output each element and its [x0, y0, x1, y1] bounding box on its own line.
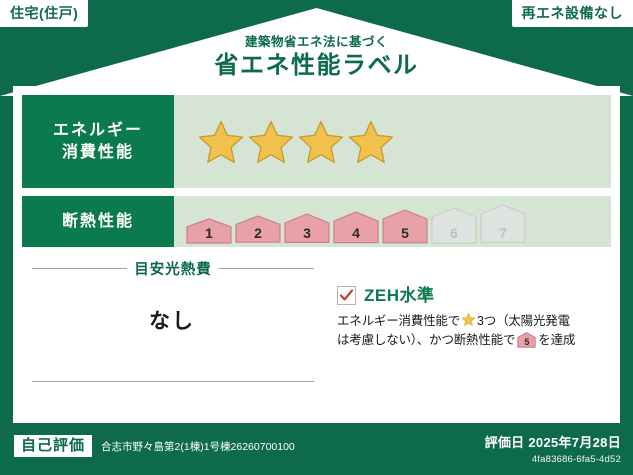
- insulation-label-line1: 断熱性能: [62, 211, 134, 233]
- house-icon-number: 5: [517, 338, 536, 347]
- page-title: 省エネ性能ラベル: [0, 52, 633, 80]
- zeh-title: ZEH水準: [364, 287, 435, 304]
- zeh-desc-part1: エネルギー消費性能で: [337, 314, 460, 328]
- utility-cost-heading-text: 目安光熱費: [134, 258, 212, 279]
- badge-renewable-energy: 再エネ設備なし: [512, 0, 633, 27]
- energy-performance-label: エネルギー 消費性能: [22, 95, 174, 188]
- insulation-level-3: 3: [284, 213, 330, 243]
- zeh-panel: ZEH水準 エネルギー消費性能で3つ（太陽光発電は考慮しない）、かつ断熱性能で5…: [322, 254, 611, 414]
- zeh-description: エネルギー消費性能で3つ（太陽光発電は考慮しない）、かつ断熱性能で5を達成: [337, 312, 603, 350]
- title-subtitle: 建築物省エネ法に基づく: [0, 36, 633, 50]
- heading-rule-right: [219, 268, 314, 269]
- energy-performance-row: エネルギー 消費性能: [22, 95, 611, 188]
- insulation-level-number: 2: [235, 226, 281, 240]
- insulation-performance-label: 断熱性能: [22, 196, 174, 247]
- label-footer: 自己評価 合志市野々島第2(1棟)1号棟26260700100 評価日 2025…: [0, 423, 633, 475]
- footer-right-group: 評価日 2025年7月28日 4fa83686-6fa5-4d52: [485, 432, 621, 465]
- property-address: 合志市野々島第2(1棟)1号棟26260700100: [101, 439, 295, 454]
- label-card: エネルギー 消費性能 断熱性能 1234567 目安光熱費: [13, 86, 620, 423]
- energy-label-line2: 消費性能: [62, 142, 134, 164]
- house-icon: 5: [517, 332, 536, 348]
- star-icon: [298, 119, 344, 165]
- insulation-level-4: 4: [333, 211, 379, 244]
- evaluation-id: 4fa83686-6fa5-4d52: [485, 454, 621, 465]
- insulation-level-number: 4: [333, 226, 379, 240]
- insulation-level-number: 5: [382, 226, 428, 240]
- evaluation-date: 評価日 2025年7月28日: [485, 432, 621, 451]
- star-icon: [198, 119, 244, 165]
- insulation-level-number: 3: [284, 226, 330, 240]
- utility-cost-value: なし: [22, 305, 322, 335]
- insulation-level-2: 2: [235, 215, 281, 243]
- insulation-level-scale: 1234567: [186, 200, 526, 244]
- insulation-performance-value: 1234567: [174, 196, 611, 247]
- star-icon: [461, 312, 476, 327]
- insulation-performance-row: 断熱性能 1234567: [22, 196, 611, 247]
- star-icon: [348, 119, 394, 165]
- insulation-level-7: 7: [480, 204, 526, 243]
- zeh-checkbox[interactable]: [337, 286, 356, 305]
- zeh-header: ZEH水準: [337, 286, 603, 305]
- zeh-desc-part4: を達成: [538, 333, 575, 347]
- utility-cost-panel: 目安光熱費 なし: [22, 254, 322, 414]
- insulation-level-6: 6: [431, 207, 477, 244]
- energy-performance-value: [174, 95, 611, 188]
- badge-building-type: 住宅(住戸): [0, 0, 88, 27]
- utility-cost-heading: 目安光熱費: [22, 258, 322, 279]
- zeh-block: ZEH水準 エネルギー消費性能で3つ（太陽光発電は考慮しない）、かつ断熱性能で5…: [323, 254, 611, 350]
- energy-performance-label: 住宅(住戸) 再エネ設備なし 建築物省エネ法に基づく 省エネ性能ラベル エネルギ…: [0, 0, 633, 475]
- zeh-desc-part2: 3つ（太陽光発電: [477, 314, 570, 328]
- heading-rule-left: [32, 268, 127, 269]
- lower-section: 目安光熱費 なし ZEH水準: [22, 254, 611, 414]
- check-icon: [339, 288, 354, 303]
- insulation-level-1: 1: [186, 218, 232, 244]
- insulation-level-number: 1: [186, 226, 232, 240]
- utility-cost-divider: [32, 381, 314, 382]
- footer-left-group: 自己評価 合志市野々島第2(1棟)1号棟26260700100: [14, 435, 295, 457]
- title-block: 建築物省エネ法に基づく 省エネ性能ラベル: [0, 36, 633, 79]
- self-assessment-badge: 自己評価: [14, 435, 92, 457]
- insulation-level-5: 5: [382, 209, 428, 244]
- insulation-level-number: 7: [480, 226, 526, 240]
- zeh-desc-part3: は考慮しない）、かつ断熱性能で: [337, 333, 515, 347]
- insulation-level-number: 6: [431, 226, 477, 240]
- energy-label-line1: エネルギー: [53, 120, 143, 142]
- star-rating: [198, 119, 394, 165]
- star-icon: [248, 119, 294, 165]
